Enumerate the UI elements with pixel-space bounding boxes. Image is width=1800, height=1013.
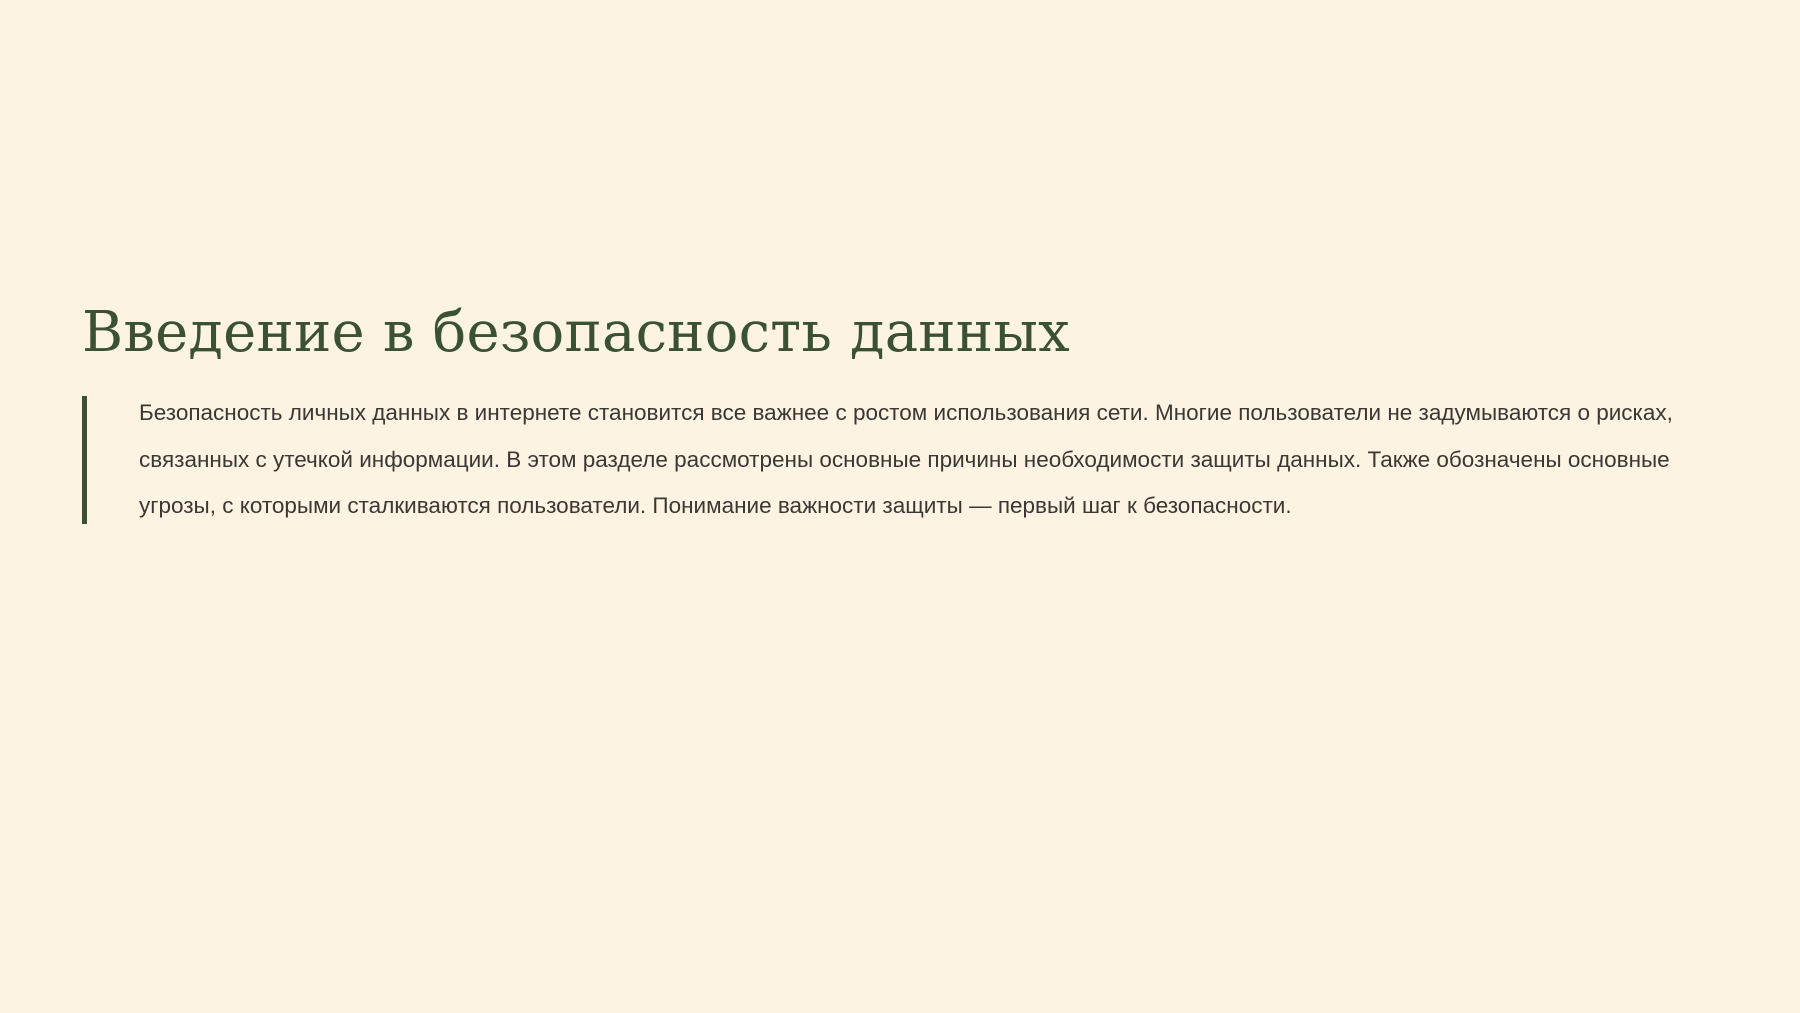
- body-paragraph: Безопасность личных данных в интернете с…: [139, 390, 1679, 530]
- content-block: Введение в безопасность данных Безопасно…: [82, 300, 1722, 530]
- page-title: Введение в безопасность данных: [82, 300, 1722, 366]
- accent-bar: [82, 396, 87, 524]
- body-section: Безопасность личных данных в интернете с…: [82, 390, 1722, 530]
- slide-canvas: Введение в безопасность данных Безопасно…: [0, 0, 1800, 1013]
